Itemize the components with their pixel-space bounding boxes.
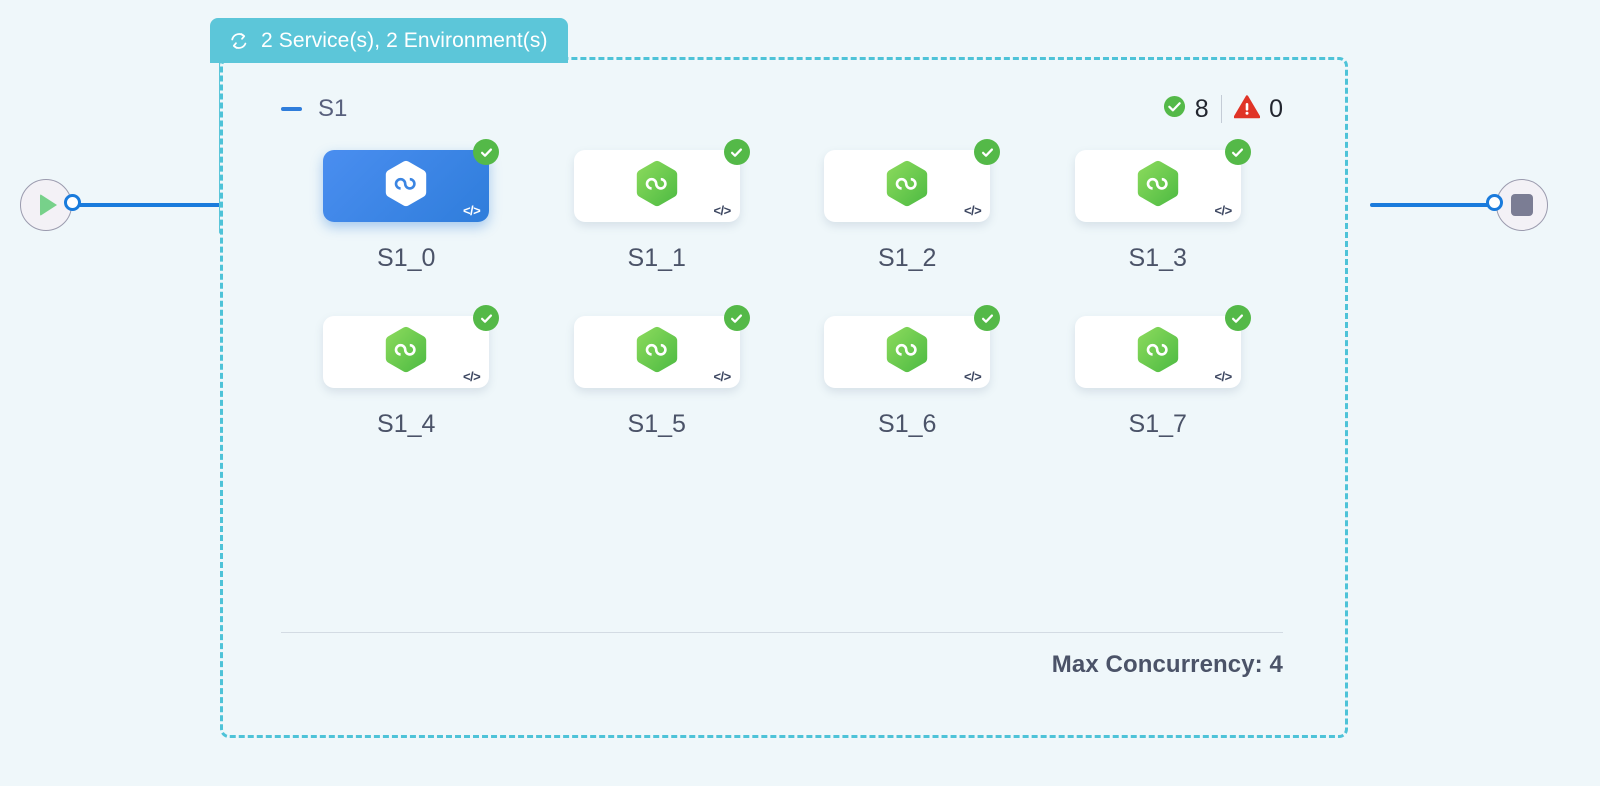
footer-divider <box>281 632 1283 634</box>
warning-count-value: 0 <box>1269 95 1283 124</box>
service-hexagon-icon <box>885 326 929 378</box>
check-badge-icon <box>974 139 1000 165</box>
max-concurrency-label: Max Concurrency: 4 <box>281 651 1283 679</box>
code-icon[interactable]: </> <box>1214 203 1231 218</box>
warning-triangle-icon <box>1234 95 1260 124</box>
group-header-tab[interactable]: 2 Service(s), 2 Environment(s) <box>210 18 568 63</box>
service-node-card[interactable]: </> <box>1075 316 1241 388</box>
node-label: S1_7 <box>1129 410 1187 439</box>
node-item: </> S1_3 <box>1058 150 1258 273</box>
loop-group-body: S1 8 <box>223 60 1345 735</box>
node-grid: </> S1_0 <box>281 150 1283 439</box>
node-label: S1_2 <box>878 244 936 273</box>
node-item: </> S1_6 <box>807 316 1007 439</box>
node-item: </> S1_4 <box>306 316 506 439</box>
service-node-card[interactable]: </> <box>574 150 740 222</box>
group-footer: Max Concurrency: 4 <box>281 632 1283 680</box>
node-label: S1_1 <box>628 244 686 273</box>
end-node-input-port[interactable] <box>1486 194 1503 211</box>
check-badge-icon <box>473 305 499 331</box>
loop-refresh-icon <box>228 30 250 52</box>
success-counter: 8 <box>1163 95 1209 124</box>
node-label: S1_6 <box>878 410 936 439</box>
success-check-icon <box>1163 95 1186 123</box>
service-hexagon-icon <box>384 160 428 212</box>
check-badge-icon <box>724 305 750 331</box>
service-title: S1 <box>318 95 347 123</box>
code-icon[interactable]: </> <box>964 369 981 384</box>
check-badge-icon <box>1225 139 1251 165</box>
counter-divider <box>1221 95 1223 123</box>
code-icon[interactable]: </> <box>713 203 730 218</box>
service-hexagon-icon <box>384 326 428 378</box>
check-badge-icon <box>473 139 499 165</box>
node-item: </> S1_2 <box>807 150 1007 273</box>
stop-icon <box>1511 194 1533 216</box>
node-label: S1_3 <box>1129 244 1187 273</box>
service-hexagon-icon <box>635 160 679 212</box>
service-node-card[interactable]: </> <box>574 316 740 388</box>
code-icon[interactable]: </> <box>463 369 480 384</box>
service-title-wrap[interactable]: S1 <box>281 95 347 123</box>
node-label: S1_4 <box>377 410 435 439</box>
service-header: S1 8 <box>281 90 1283 128</box>
success-count-value: 8 <box>1195 95 1209 124</box>
node-item: </> S1_7 <box>1058 316 1258 439</box>
service-node-card[interactable]: </> <box>323 316 489 388</box>
service-node-card[interactable]: </> <box>824 150 990 222</box>
end-node[interactable] <box>1496 179 1548 231</box>
warning-counter: 0 <box>1234 95 1283 124</box>
play-icon <box>40 194 57 216</box>
service-node-card[interactable]: </> <box>323 150 489 222</box>
edge-group-to-end <box>1370 203 1498 207</box>
service-hexagon-icon <box>885 160 929 212</box>
minus-collapse-icon[interactable] <box>281 107 302 111</box>
service-hexagon-icon <box>1136 160 1180 212</box>
code-icon[interactable]: </> <box>1214 369 1231 384</box>
group-header-label: 2 Service(s), 2 Environment(s) <box>261 29 548 53</box>
status-counters: 8 0 <box>1163 95 1283 124</box>
code-icon[interactable]: </> <box>463 203 480 218</box>
service-node-card[interactable]: </> <box>1075 150 1241 222</box>
node-item: </> S1_5 <box>557 316 757 439</box>
code-icon[interactable]: </> <box>713 369 730 384</box>
service-hexagon-icon <box>635 326 679 378</box>
service-node-card[interactable]: </> <box>824 316 990 388</box>
check-badge-icon <box>724 139 750 165</box>
edge-start-to-group <box>78 203 226 207</box>
code-icon[interactable]: </> <box>964 203 981 218</box>
loop-group-container[interactable]: S1 8 <box>220 57 1348 738</box>
node-item: </> S1_1 <box>557 150 757 273</box>
start-node-output-port[interactable] <box>64 194 81 211</box>
node-item: </> S1_0 <box>306 150 506 273</box>
node-label: S1_0 <box>377 244 435 273</box>
check-badge-icon <box>974 305 1000 331</box>
service-hexagon-icon <box>1136 326 1180 378</box>
node-label: S1_5 <box>628 410 686 439</box>
check-badge-icon <box>1225 305 1251 331</box>
workflow-canvas: S1 8 <box>0 0 1600 786</box>
